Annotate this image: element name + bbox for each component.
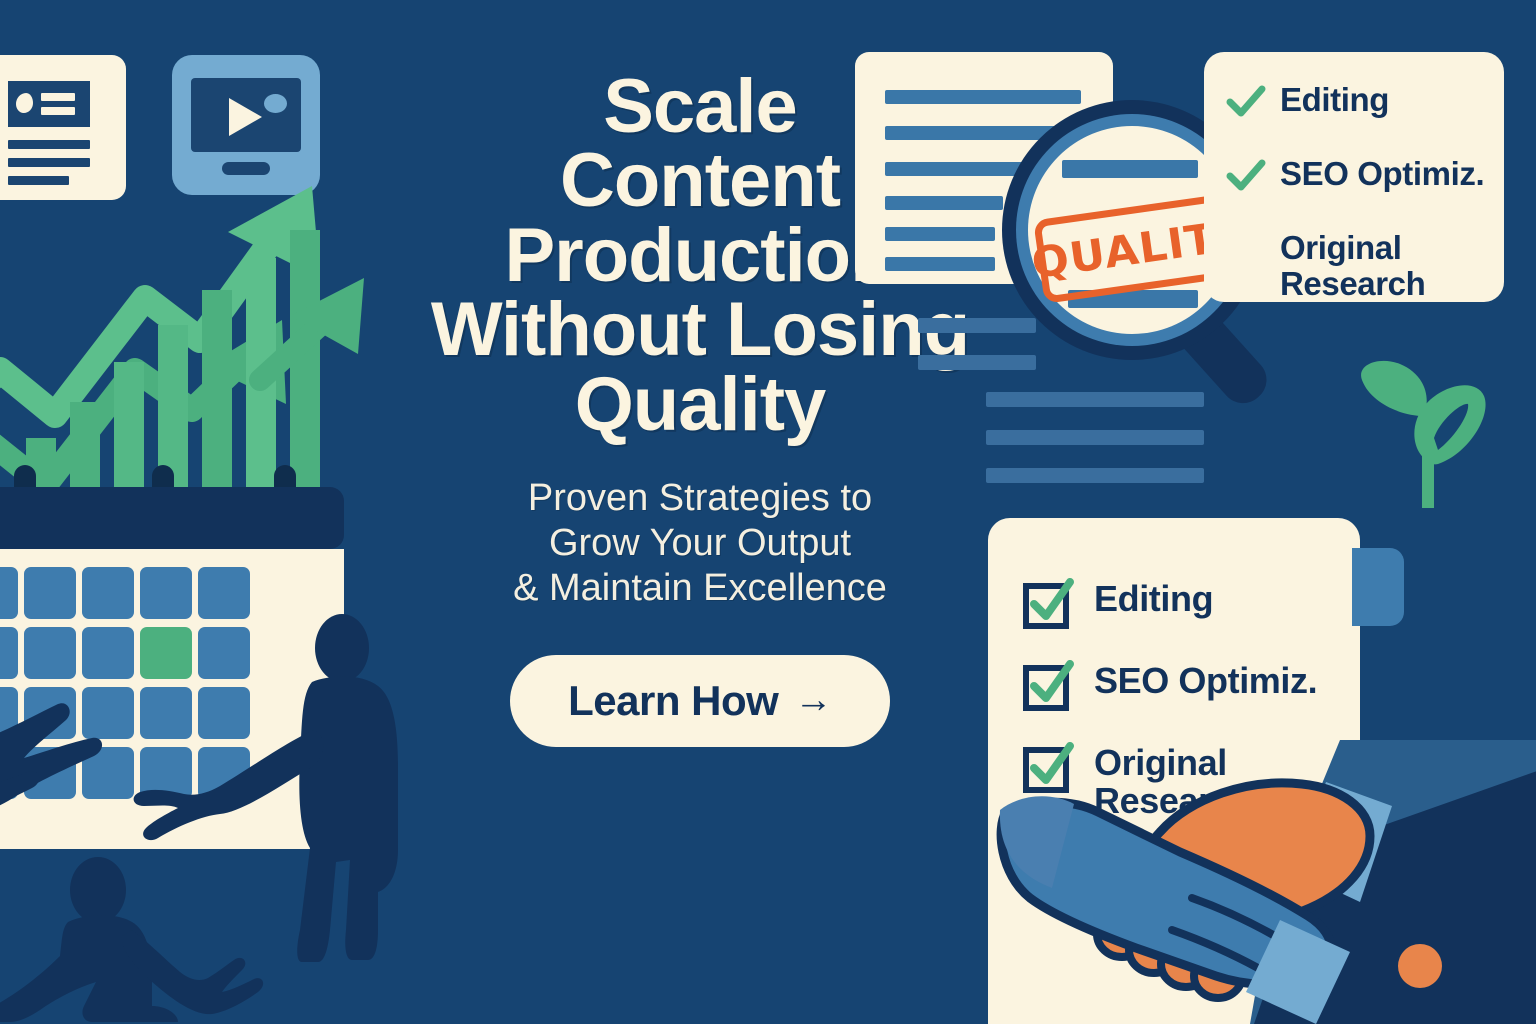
- team-silhouettes: [0, 600, 450, 1024]
- check-icon-hidden: [1226, 230, 1266, 234]
- article-thumbnail-line: [41, 107, 75, 115]
- sprout-leaf-left: [1361, 361, 1427, 416]
- text-line-decor: [986, 468, 1204, 483]
- article-text-line: [8, 140, 90, 149]
- pointing-hand-silhouette: [0, 703, 102, 826]
- subtitle-line-1: Proven Strategies to: [430, 476, 970, 521]
- check-icon: [1226, 156, 1266, 192]
- sprout-icon: [1352, 358, 1512, 518]
- document-text-line: [885, 257, 995, 271]
- check-icon: [1226, 82, 1266, 118]
- learn-how-button[interactable]: Learn How →: [510, 655, 890, 747]
- arrow-right-icon: →: [794, 679, 832, 722]
- headline-line-5: Quality: [430, 368, 970, 442]
- article-thumbnail: [8, 81, 90, 127]
- document-text-line: [885, 227, 995, 241]
- checklist-item-label: Original Research: [1280, 230, 1504, 301]
- standing-person-silhouette: [134, 614, 398, 962]
- headline-line-4: Without Losing: [430, 293, 970, 367]
- checklist-item-label: Editing: [1094, 578, 1213, 618]
- checklist-item[interactable]: Editing: [1022, 578, 1213, 630]
- checklist-item[interactable]: SEO Optimiz.: [1022, 660, 1317, 712]
- checklist-item-label: SEO Optimiz.: [1094, 660, 1317, 700]
- learn-how-label: Learn How: [568, 677, 778, 725]
- checklist-card-top: Editing SEO Optimiz. Original Research: [1204, 52, 1504, 302]
- checklist-item-label: Editing: [1280, 82, 1389, 118]
- article-text-line: [8, 158, 90, 167]
- kneeling-person-silhouette: [0, 857, 263, 1022]
- banner-canvas: Scale Content Production Without Losing …: [0, 0, 1536, 1024]
- card-tab-decor: [1352, 548, 1404, 626]
- play-icon: [229, 98, 262, 136]
- document-text-line: [885, 196, 1003, 210]
- subtitle-line-3: & Maintain Excellence: [430, 566, 970, 611]
- subtitle: Proven Strategies to Grow Your Output & …: [430, 476, 970, 610]
- checklist-item[interactable]: Original Research: [1226, 230, 1504, 301]
- subtitle-line-2: Grow Your Output: [430, 521, 970, 566]
- checklist-item-label: SEO Optimiz.: [1280, 156, 1484, 192]
- text-line-decor: [986, 430, 1204, 445]
- checklist-item[interactable]: Editing: [1226, 82, 1389, 118]
- checkbox-checked-icon[interactable]: [1022, 660, 1074, 712]
- video-dot: [264, 94, 287, 113]
- checkbox-checked-icon[interactable]: [1022, 578, 1074, 630]
- suit-button: [1398, 944, 1442, 988]
- article-thumbnail-line: [41, 93, 75, 101]
- article-thumbnail-shape: [16, 93, 33, 113]
- video-screen: [191, 78, 301, 152]
- lens-text-line: [1062, 160, 1198, 178]
- handshake-icon: [1040, 770, 1536, 1024]
- checklist-item[interactable]: SEO Optimiz.: [1226, 156, 1484, 192]
